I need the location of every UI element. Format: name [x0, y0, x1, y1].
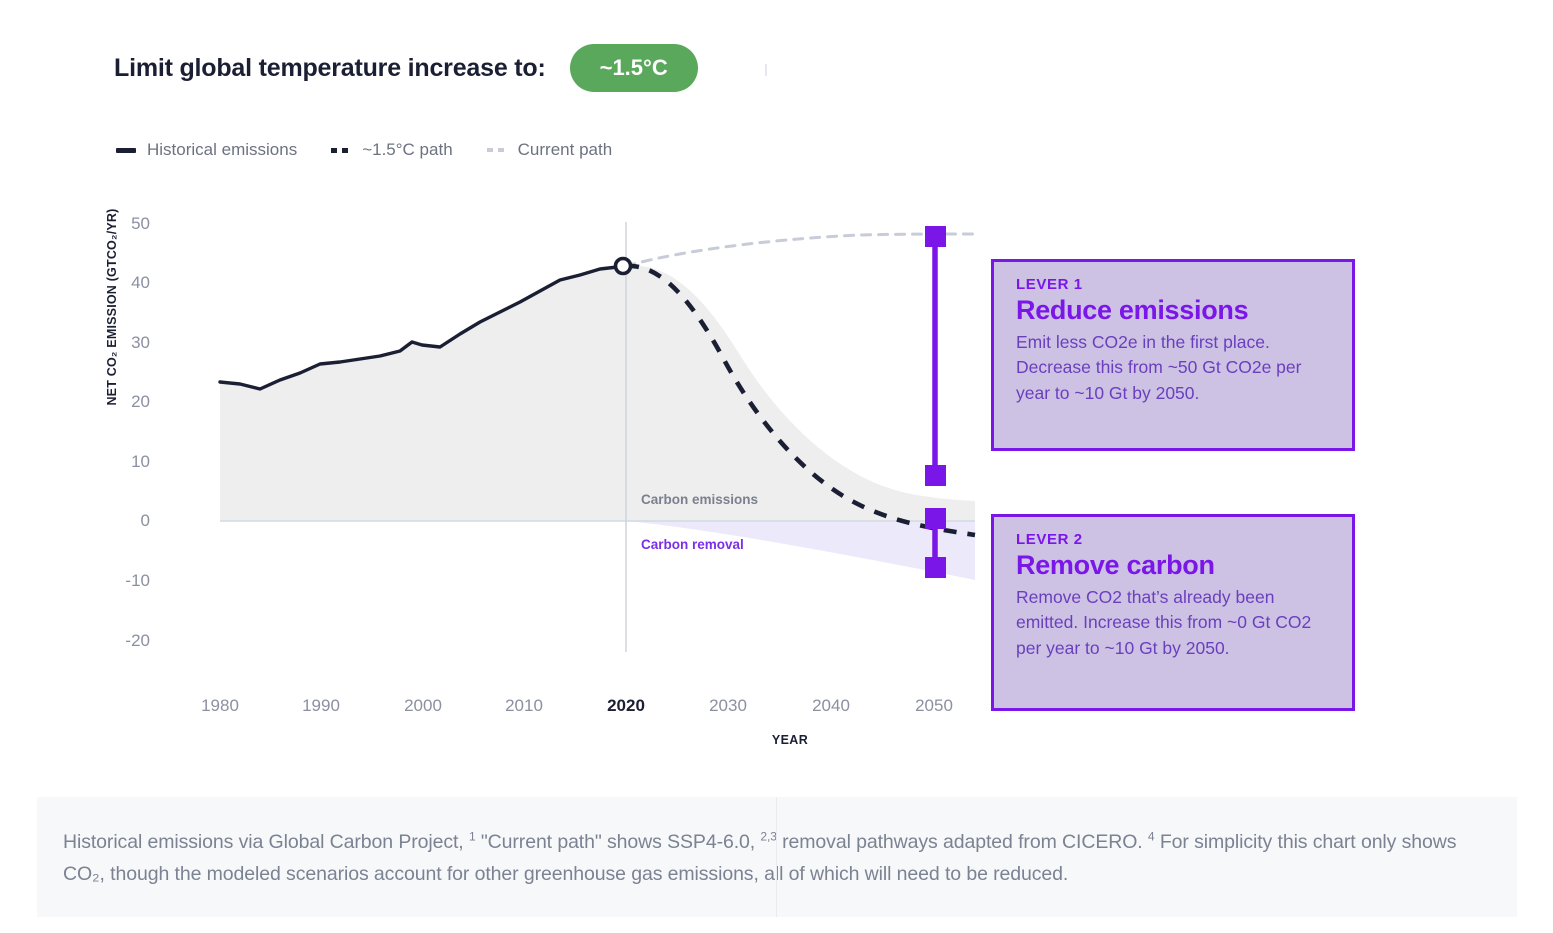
- x-tick-1980: 1980: [180, 696, 260, 716]
- lever-2-callout: LEVER 2 Remove carbon Remove CO2 that’s …: [991, 514, 1355, 711]
- footnote-line-1: Historical emissions via Global Carbon P…: [63, 827, 1491, 890]
- historical-area: [220, 266, 626, 521]
- lever-2-body: Remove CO2 that’s already been emitted. …: [1016, 585, 1332, 661]
- lever-1-callout: LEVER 1 Reduce emissions Emit less CO2e …: [991, 259, 1355, 451]
- chart-footnote: Historical emissions via Global Carbon P…: [37, 797, 1517, 917]
- x-tick-2010: 2010: [484, 696, 564, 716]
- footnote-text-a: Historical emissions via Global Carbon P…: [63, 831, 464, 853]
- lever-2-title: Remove carbon: [1016, 550, 1332, 581]
- x-tick-1990: 1990: [281, 696, 361, 716]
- carbon-removal-label: Carbon removal: [641, 537, 744, 552]
- lever-1-kicker: LEVER 1: [1016, 276, 1332, 293]
- y-tick-0: 0: [106, 511, 150, 531]
- footnote-ref-3: 4: [1148, 830, 1155, 844]
- y-tick-10: 10: [106, 452, 150, 472]
- y-tick-minus-10: -10: [106, 571, 150, 591]
- carbon-emissions-band: [626, 266, 975, 521]
- lever-1-title: Reduce emissions: [1016, 295, 1332, 326]
- footnote-ref-2: 2,3: [760, 830, 776, 844]
- y-axis-title: NET CO₂ EMISSION (GTCO₂/YR): [105, 187, 119, 427]
- y-tick-minus-20: -20: [106, 631, 150, 651]
- x-tick-2040: 2040: [791, 696, 871, 716]
- footnote-divider: [776, 797, 777, 917]
- x-tick-2000: 2000: [383, 696, 463, 716]
- current-path-line: [626, 234, 975, 266]
- footnote-text-b: "Current path" shows SSP4-6.0,: [481, 831, 755, 853]
- lever-2-kicker: LEVER 2: [1016, 531, 1332, 548]
- lever-1-bottom-handle: [925, 465, 946, 486]
- carbon-emissions-label: Carbon emissions: [641, 492, 758, 507]
- x-tick-2030: 2030: [688, 696, 768, 716]
- footnote-text-c: removal pathways adapted from CICERO.: [782, 831, 1142, 853]
- x-axis-title: YEAR: [730, 733, 850, 747]
- lever-2-top-handle: [925, 508, 946, 529]
- footnote-text-d: For simplicity: [1160, 831, 1272, 853]
- lever-1-top-handle: [925, 226, 946, 247]
- x-tick-2050: 2050: [894, 696, 974, 716]
- lever-1-body: Emit less CO2e in the first place. Decre…: [1016, 330, 1332, 406]
- lever-2-bottom-handle: [925, 557, 946, 578]
- current-year-point-marker: [616, 259, 631, 274]
- footnote-ref-1: 1: [469, 830, 476, 844]
- x-tick-2020: 2020: [586, 696, 666, 716]
